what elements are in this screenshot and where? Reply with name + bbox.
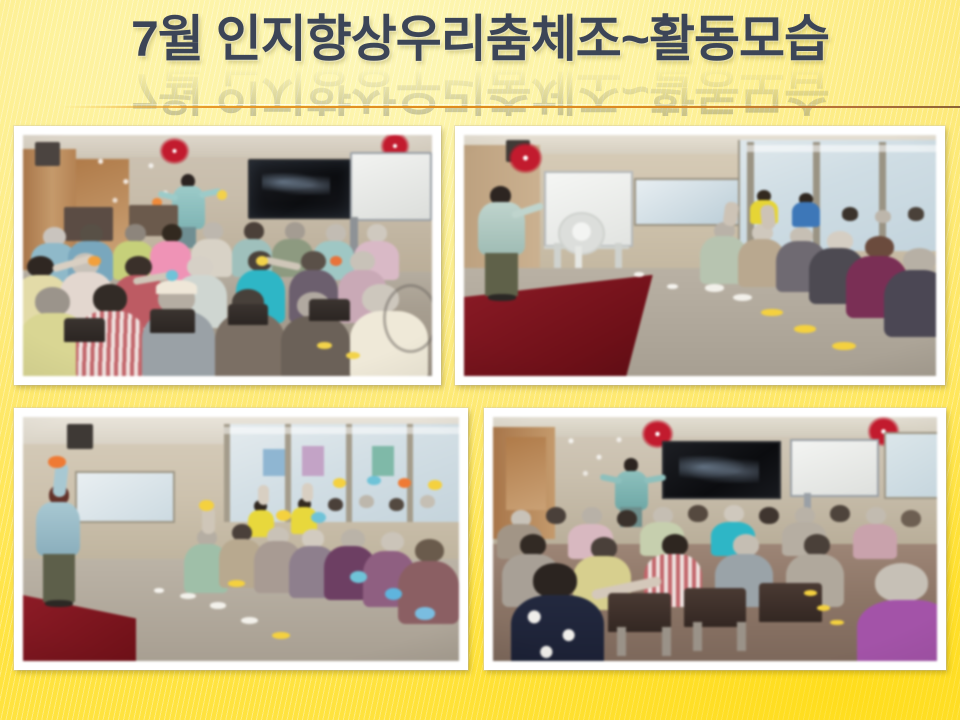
presentation-slide: 7월 인지향상우리춤체조~활동모습 7월 인지향상우리춤체조~활동모습	[0, 0, 960, 720]
slide-title-reflection: 7월 인지향상우리춤체조~활동모습	[0, 66, 960, 116]
photo-bottom-left[interactable]	[14, 408, 468, 670]
title-divider-highlight	[62, 104, 960, 105]
photo-bottom-right[interactable]	[484, 408, 946, 670]
photo-bottom-left-image	[23, 417, 459, 661]
photo-top-right[interactable]	[455, 126, 945, 385]
title-area: 7월 인지향상우리춤체조~활동모습 7월 인지향상우리춤체조~활동모습	[0, 0, 960, 112]
photo-top-left-image	[23, 135, 432, 376]
slide-title: 7월 인지향상우리춤체조~활동모습	[0, 14, 960, 64]
photo-top-right-image	[464, 135, 936, 376]
photo-top-left[interactable]	[14, 126, 441, 385]
title-divider-line	[62, 106, 960, 108]
photo-bottom-right-image	[493, 417, 937, 661]
